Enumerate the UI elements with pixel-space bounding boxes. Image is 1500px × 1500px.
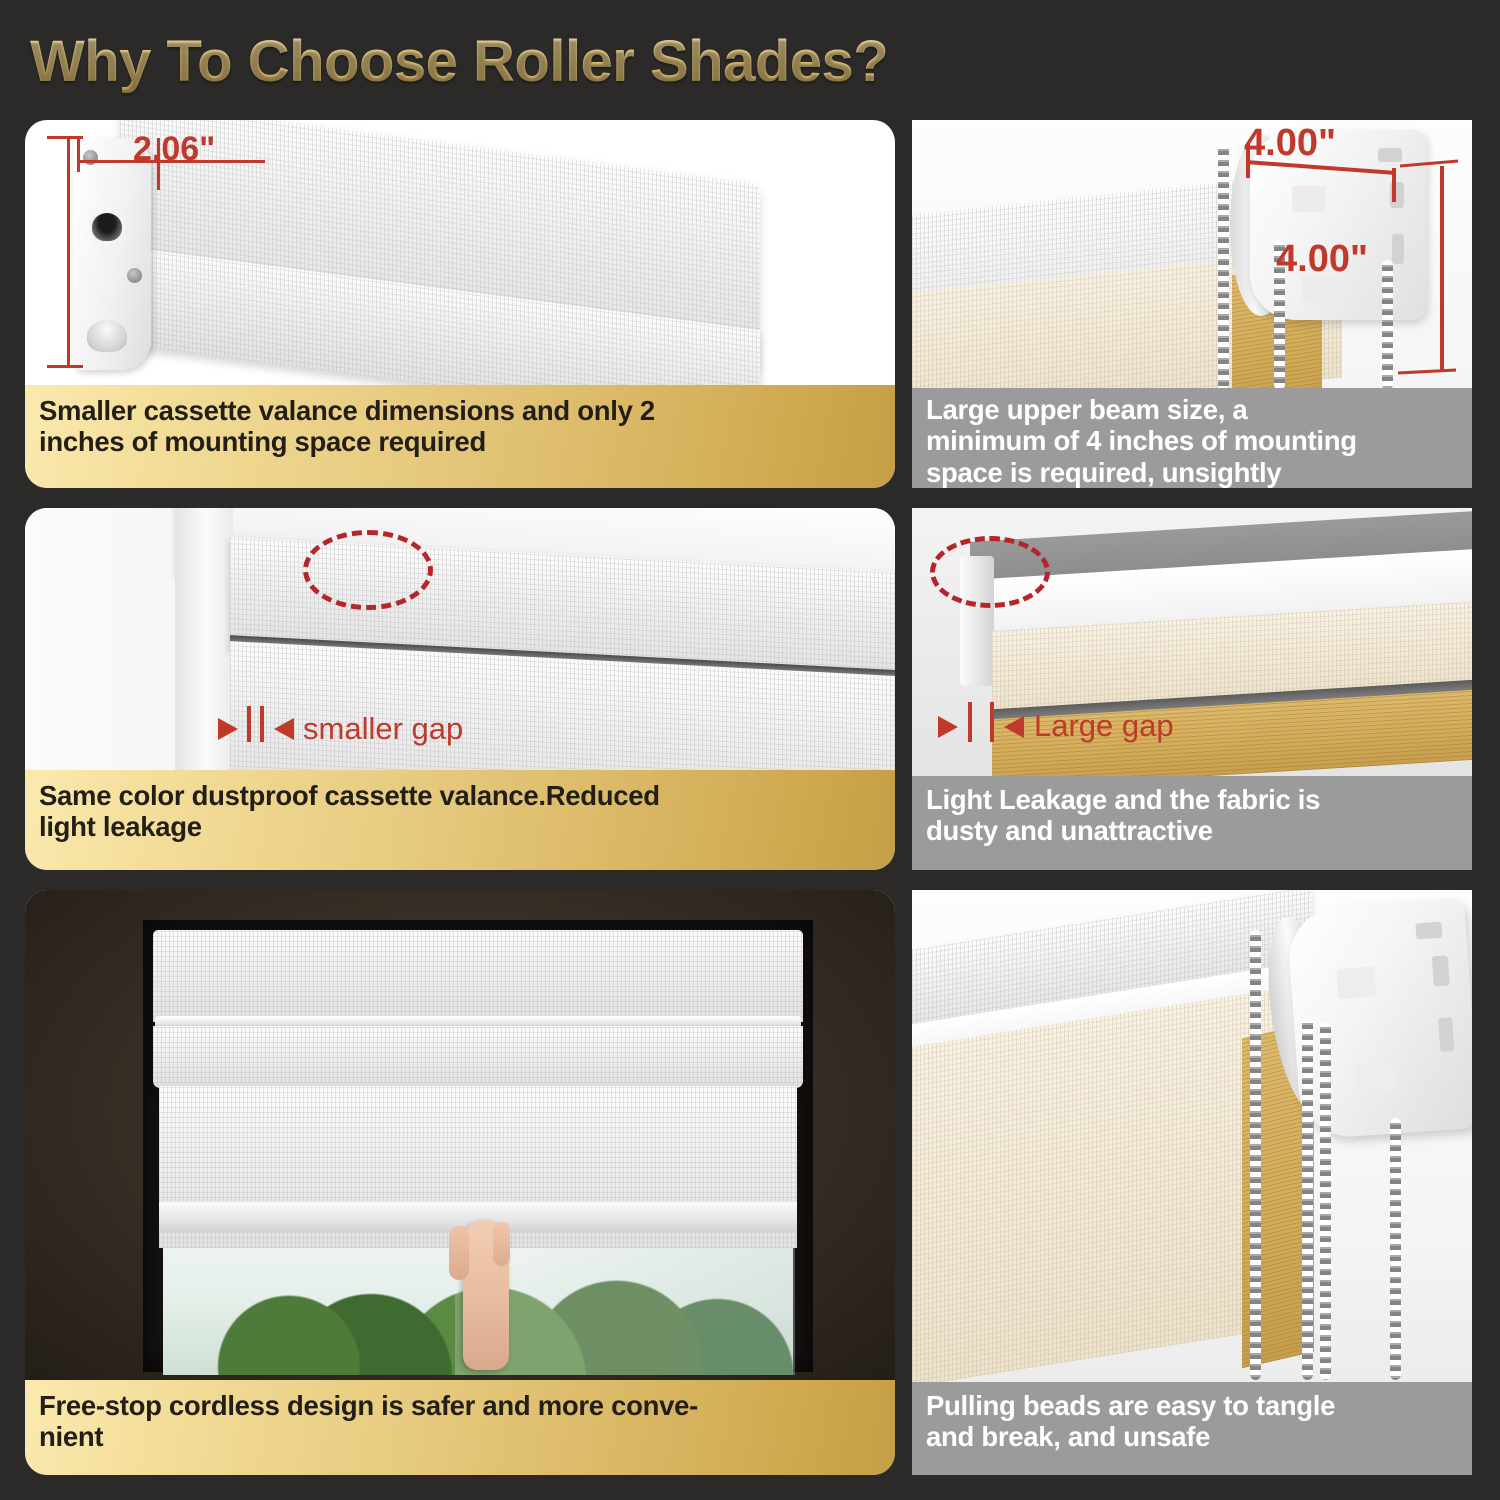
gap-marker-right bbox=[260, 706, 264, 742]
panel-smaller-gap: smaller gap Same color dustproof cassett… bbox=[25, 508, 895, 870]
gap-arrow-right-icon bbox=[218, 718, 238, 740]
gap-marker-right bbox=[990, 702, 994, 742]
bracket-notch bbox=[1438, 1017, 1454, 1052]
bead-chain bbox=[1218, 144, 1229, 388]
cream-fabric bbox=[912, 986, 1292, 1382]
gap-marker-left bbox=[247, 706, 251, 742]
panel-2-caption: Large upper beam size, a minimum of 4 in… bbox=[912, 388, 1472, 488]
panel-3-photo: smaller gap bbox=[25, 508, 895, 770]
panel-3-caption: Same color dustproof cassette valance.Re… bbox=[25, 770, 895, 870]
height-dim-tick-bottom bbox=[47, 365, 83, 368]
caption-line: Pulling beads are easy to tangle bbox=[926, 1390, 1335, 1421]
comparison-grid: 2.06" 5.49" Smaller cassette valance dim… bbox=[0, 0, 1500, 1500]
caption-line: Light Leakage and the fabric is bbox=[926, 784, 1320, 815]
bead-chain bbox=[1390, 1118, 1401, 1380]
caption-line: light leakage bbox=[39, 811, 660, 842]
panel-5-caption: Free-stop cordless design is safer and m… bbox=[25, 1380, 895, 1475]
caption-line: space is required, unsightly bbox=[926, 457, 1357, 488]
width-dim-extension-left bbox=[77, 138, 80, 172]
beam-width-label: 4.00" bbox=[1244, 122, 1336, 165]
caption-line: nient bbox=[39, 1421, 698, 1452]
bracket-notch bbox=[1378, 148, 1402, 162]
bracket-logo-icon bbox=[1292, 186, 1326, 212]
panel-6-photo bbox=[912, 890, 1472, 1382]
panel-pulling-beads: Pulling beads are easy to tangle and bre… bbox=[912, 890, 1472, 1475]
bead-chain bbox=[1250, 930, 1261, 1380]
panel-smaller-cassette: 2.06" 5.49" Smaller cassette valance dim… bbox=[25, 120, 895, 488]
bracket-logo-icon bbox=[1336, 966, 1376, 999]
bracket-notch bbox=[1415, 922, 1442, 940]
panel-large-gap: Large gap Light Leakage and the fabric i… bbox=[912, 508, 1472, 870]
caption-line: and break, and unsafe bbox=[926, 1421, 1335, 1452]
panel-1-caption: Smaller cassette valance dimensions and … bbox=[25, 385, 895, 488]
screw-icon bbox=[127, 268, 142, 283]
valance-lower bbox=[153, 1026, 803, 1088]
caption-line: Smaller cassette valance dimensions and … bbox=[39, 395, 655, 426]
caption-line: minimum of 4 inches of mounting bbox=[926, 425, 1357, 456]
bead-chain bbox=[1382, 260, 1393, 388]
beam-height-tick-bottom bbox=[1398, 368, 1456, 374]
bracket-notch bbox=[1432, 955, 1450, 986]
panel-1-photo: 2.06" 5.49" bbox=[25, 120, 895, 385]
gap-label: smaller gap bbox=[303, 711, 463, 747]
panel-6-caption: Pulling beads are easy to tangle and bre… bbox=[912, 1382, 1472, 1475]
gap-arrow-left-icon bbox=[1004, 716, 1024, 738]
gap-label: Large gap bbox=[1034, 708, 1174, 744]
gap-marker-left bbox=[968, 702, 972, 742]
panel-4-caption: Light Leakage and the fabric is dusty an… bbox=[912, 776, 1472, 870]
knob-icon bbox=[87, 320, 127, 352]
bracket-notch bbox=[1392, 234, 1404, 264]
gap-highlight-ellipse bbox=[303, 530, 433, 610]
beam-height-bar bbox=[1440, 166, 1444, 372]
cassette-valance bbox=[153, 930, 803, 1022]
height-dim-bar bbox=[67, 136, 70, 368]
bead-chain bbox=[1320, 1022, 1331, 1380]
caption-line: Free-stop cordless design is safer and m… bbox=[39, 1390, 698, 1421]
caption-line: Large upper beam size, a bbox=[926, 394, 1357, 425]
caption-line: inches of mounting space required bbox=[39, 426, 655, 457]
roller-slot-icon bbox=[89, 210, 125, 244]
panel-4-photo: Large gap bbox=[912, 508, 1472, 776]
gap-arrow-left-icon bbox=[274, 718, 294, 740]
gap-highlight-ellipse bbox=[930, 536, 1050, 608]
gap-arrow-right-icon bbox=[938, 716, 958, 738]
panel-large-upper-beam: 4.00" 4.00" Large upper beam size, a min… bbox=[912, 120, 1472, 488]
height-dim-tick-top bbox=[47, 136, 83, 139]
hand-icon bbox=[463, 1220, 509, 1370]
panel-cordless-design: Free-stop cordless design is safer and m… bbox=[25, 890, 895, 1475]
valance-end-cap bbox=[73, 138, 151, 370]
caption-line: Same color dustproof cassette valance.Re… bbox=[39, 780, 660, 811]
panel-5-photo bbox=[25, 890, 895, 1380]
caption-line: dusty and unattractive bbox=[926, 815, 1320, 846]
panel-2-photo: 4.00" 4.00" bbox=[912, 120, 1472, 388]
bracket-logo-icon bbox=[1355, 1061, 1395, 1094]
width-dim-label: 2.06" bbox=[133, 130, 215, 169]
mounting-bracket bbox=[1286, 898, 1472, 1140]
bead-chain bbox=[1302, 1018, 1313, 1380]
beam-height-label: 4.00" bbox=[1276, 238, 1368, 281]
